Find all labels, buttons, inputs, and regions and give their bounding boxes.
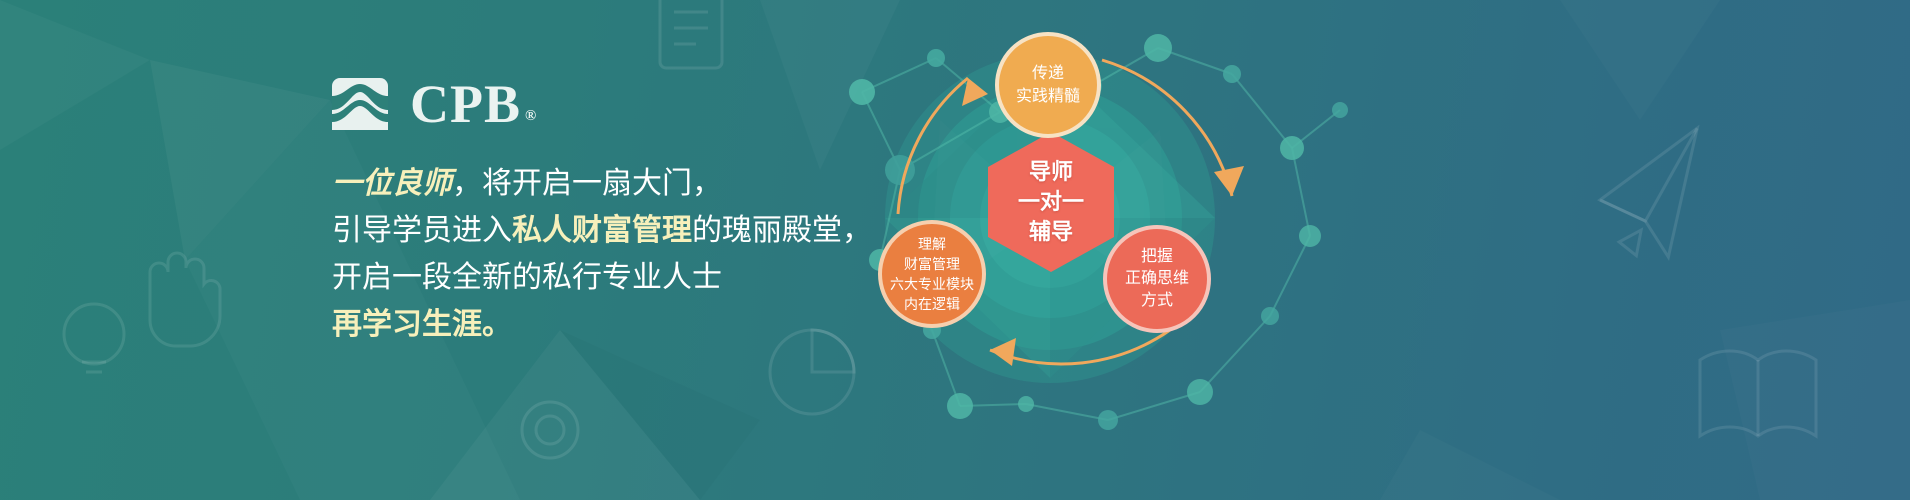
hexagon-line: 导师 bbox=[1029, 157, 1073, 187]
bubble-line: 把握 bbox=[1141, 246, 1173, 268]
bubble-line: 内在逻辑 bbox=[904, 294, 960, 314]
bubble-grasp[interactable]: 把握 正确思维 方式 bbox=[1103, 225, 1211, 333]
headline-segment: 一位良师 bbox=[332, 167, 452, 200]
headline-segment: ，将开启一扇大门， bbox=[452, 167, 722, 200]
bubble-line: 实践精髓 bbox=[1016, 85, 1080, 108]
cpb-wave-mark-icon bbox=[332, 78, 388, 130]
brand-name: CPB bbox=[410, 80, 521, 130]
banner-root: CPB ® 一位良师，将开启一扇大门， 引导学员进入私人财富管理的瑰丽殿堂， 开… bbox=[0, 0, 1910, 500]
bubble-line: 正确思维 bbox=[1125, 268, 1189, 290]
bubble-line: 方式 bbox=[1141, 290, 1173, 312]
bubble-understand[interactable]: 理解 财富管理 六大专业模块 内在逻辑 bbox=[878, 220, 986, 328]
brand-lockup: CPB ® bbox=[332, 78, 537, 130]
center-hexagon-label: 导师 一对一 辅导 bbox=[988, 132, 1114, 272]
hexagon-line: 辅导 bbox=[1029, 217, 1073, 247]
headline-segment: 开启一段全新的私行专业人士 bbox=[332, 261, 722, 294]
mentor-diagram: 导师 一对一 辅导 传递 实践精髓 理解 财富管理 六大专业模块 内在逻辑 把握… bbox=[840, 0, 1440, 500]
bubble-transmit[interactable]: 传递 实践精髓 bbox=[995, 32, 1101, 138]
registered-mark: ® bbox=[525, 109, 537, 124]
headline-segment: 私人财富管理 bbox=[512, 214, 692, 247]
bubble-line: 六大专业模块 bbox=[890, 274, 974, 294]
hexagon-line: 一对一 bbox=[1018, 187, 1084, 217]
headline-segment: 引导学员进入 bbox=[332, 214, 512, 247]
bubble-line: 财富管理 bbox=[904, 254, 960, 274]
headline-segment: 再学习生涯。 bbox=[332, 308, 512, 341]
bubble-line: 理解 bbox=[918, 234, 946, 254]
brand-wordmark: CPB ® bbox=[410, 80, 537, 130]
center-hexagon: 导师 一对一 辅导 bbox=[988, 132, 1114, 272]
bubble-line: 传递 bbox=[1032, 62, 1064, 85]
